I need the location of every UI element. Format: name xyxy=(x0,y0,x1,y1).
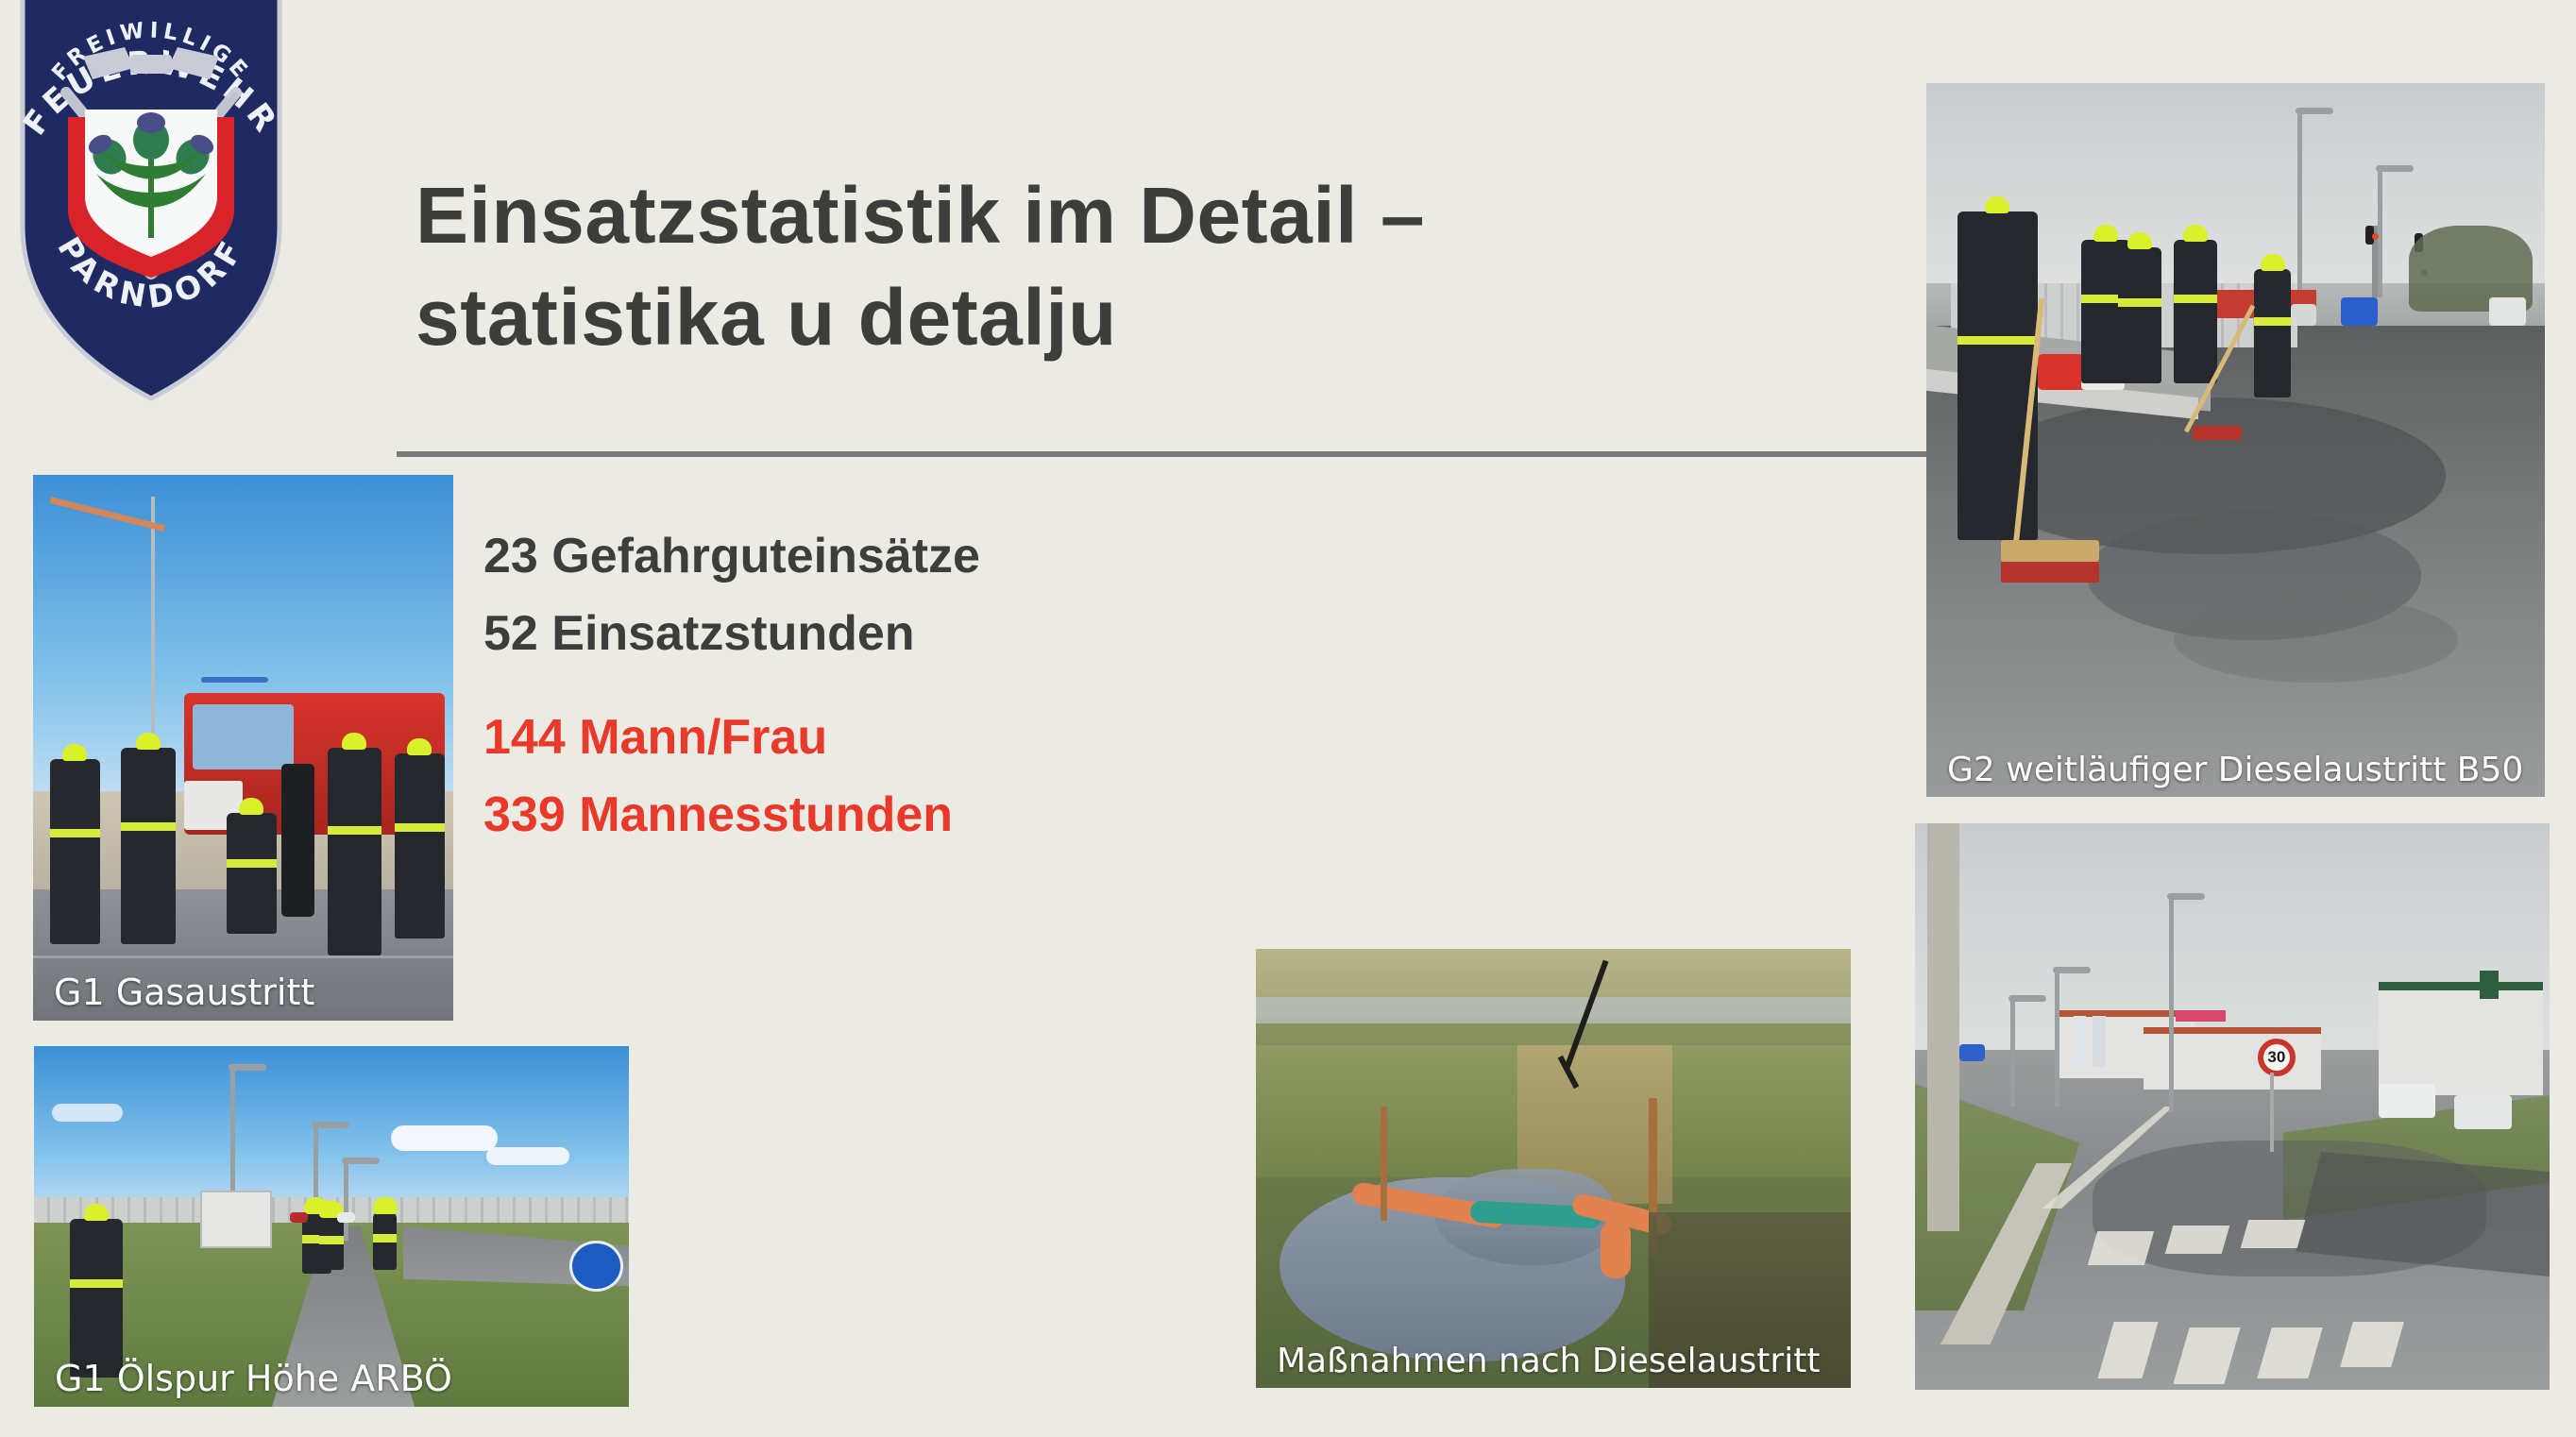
photo-caption: G1 Gasaustritt xyxy=(54,972,314,1013)
photo-scene: 30 xyxy=(1915,823,2550,1390)
slide-canvas: FREIWILLIGE FEUERWEHR PARNDORF xyxy=(0,0,2576,1437)
stats-spacer xyxy=(483,672,1333,699)
stat-einsatzstunden: 52 Einsatzstunden xyxy=(483,595,1333,672)
photo-caption: Maßnahmen nach Dieselaustritt xyxy=(1277,1342,1820,1380)
speed-limit-sign: 30 xyxy=(2258,1039,2296,1076)
photo-g1-gasaustritt: G1 Gasaustritt xyxy=(33,475,453,1021)
statistics-block: 23 Gefahrguteinsätze 52 Einsatzstunden 1… xyxy=(483,517,1333,854)
stat-gefahrguteinsaetze: 23 Gefahrguteinsätze xyxy=(483,517,1333,595)
photo-caption: G2 weitläufiger Dieselaustritt B50 xyxy=(1947,751,2523,789)
photo-scene xyxy=(1256,949,1851,1388)
page-title-line-1: Einsatzstatistik im Detail – xyxy=(415,165,1945,267)
stat-mannesstunden: 339 Mannesstunden xyxy=(483,776,1333,854)
photo-g1-oelspur: G1 Ölspur Höhe ARBÖ xyxy=(34,1046,629,1407)
title-divider xyxy=(397,451,1926,457)
stat-mann-frau: 144 Mann/Frau xyxy=(483,699,1333,776)
page-title: Einsatzstatistik im Detail – statistika … xyxy=(415,165,1945,368)
photo-scene xyxy=(33,475,453,1021)
photo-scene xyxy=(34,1046,629,1407)
feuerwehr-badge-icon: FREIWILLIGE FEUERWEHR PARNDORF xyxy=(9,0,293,406)
photo-b50: G2 weitläufiger Dieselaustritt B50 xyxy=(1926,83,2545,797)
page-title-line-2: statistika u detalju xyxy=(415,267,1945,369)
photo-massnahmen: Maßnahmen nach Dieselaustritt xyxy=(1256,949,1851,1388)
photo-scene xyxy=(1926,83,2545,797)
photo-caption: G1 Ölspur Höhe ARBÖ xyxy=(55,1358,452,1399)
fire-department-logo: FREIWILLIGE FEUERWEHR PARNDORF xyxy=(9,0,293,406)
photo-strasse: 30 xyxy=(1915,823,2550,1390)
